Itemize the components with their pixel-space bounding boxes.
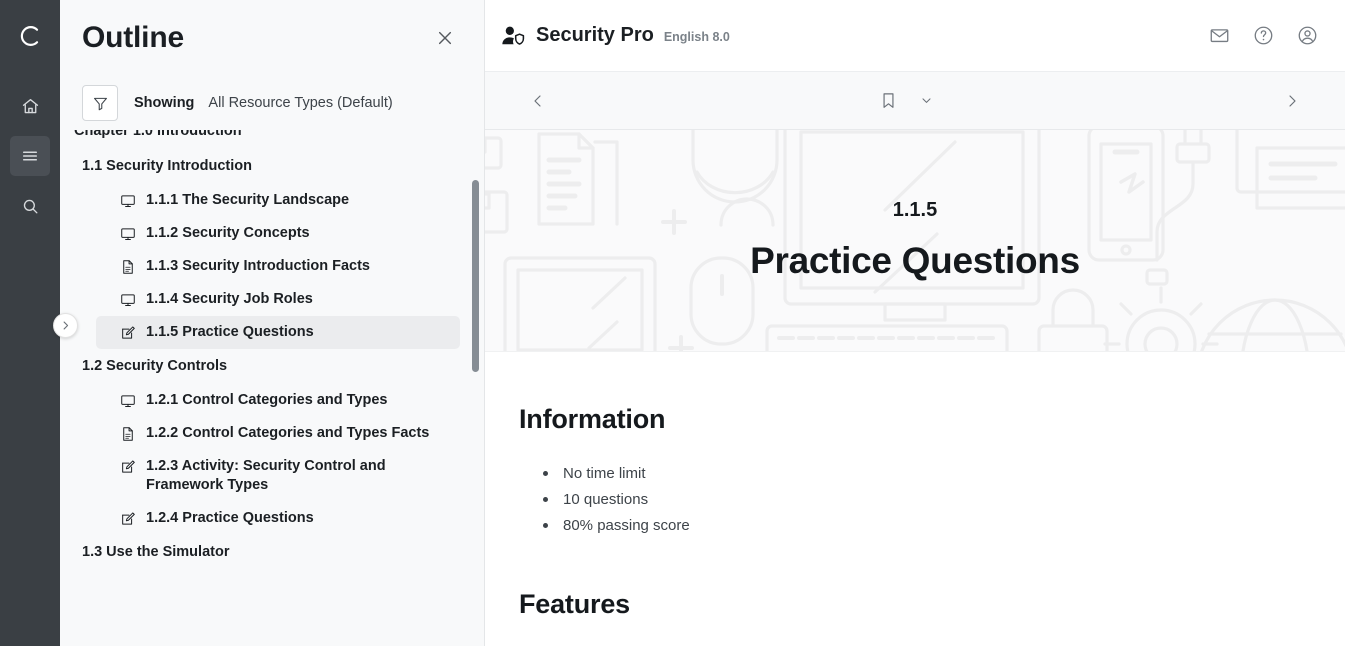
monitor-icon	[120, 226, 136, 242]
sidebar-item-search[interactable]	[10, 186, 50, 226]
outline-topic-label: 1.2.1 Control Categories and Types	[146, 391, 387, 410]
envelope-icon	[1209, 25, 1230, 46]
outline-chapter-heading[interactable]: Chapter 1.0 Introduction	[60, 130, 460, 149]
bookmark-button[interactable]	[879, 90, 898, 111]
sidebar-item-menu[interactable]	[10, 136, 50, 176]
pencil-edit-icon	[120, 325, 136, 341]
features-heading: Features	[519, 589, 1311, 620]
filter-button[interactable]	[82, 85, 118, 121]
close-icon	[435, 28, 455, 48]
outline-panel: Outline Showing All Resource Types (Defa…	[60, 0, 485, 646]
topic-body: Information No time limit10 questions80%…	[485, 352, 1345, 646]
top-bar-actions	[1205, 22, 1321, 50]
pencil-edit-icon	[120, 459, 136, 475]
outline-topic-label: 1.1.4 Security Job Roles	[146, 290, 313, 309]
c-logo-icon[interactable]	[10, 14, 50, 58]
search-icon	[21, 197, 40, 216]
showing-value[interactable]: All Resource Types (Default)	[208, 95, 392, 111]
information-bullet-list: No time limit10 questions80% passing sco…	[541, 465, 1311, 534]
hero-banner: 1.1.5 Practice Questions	[485, 130, 1345, 352]
outline-topic-item[interactable]: 1.2.2 Control Categories and Types Facts	[96, 417, 460, 450]
chevron-down-icon	[920, 94, 933, 107]
outline-topic-label: 1.1.5 Practice Questions	[146, 323, 314, 342]
user-shield-icon	[501, 25, 526, 47]
account-button[interactable]	[1293, 22, 1321, 50]
home-icon	[21, 97, 40, 116]
pencil-edit-icon	[120, 457, 136, 476]
question-circle-icon	[1253, 25, 1274, 46]
monitor-icon	[120, 224, 136, 243]
outline-topic-item[interactable]: 1.1.3 Security Introduction Facts	[96, 250, 460, 283]
user-circle-icon	[1297, 25, 1318, 46]
close-outline-button[interactable]	[428, 21, 462, 55]
information-bullet: No time limit	[541, 465, 1311, 482]
outline-topic-label: 1.1.3 Security Introduction Facts	[146, 257, 370, 276]
hero-topic-number: 1.1.5	[893, 199, 937, 222]
content-nav-bar	[485, 72, 1345, 130]
outline-topic-label: 1.1.1 The Security Landscape	[146, 191, 349, 210]
mail-button[interactable]	[1205, 22, 1233, 50]
bookmark-dropdown-button[interactable]	[920, 94, 933, 107]
outline-topic-label: 1.2.2 Control Categories and Types Facts	[146, 424, 429, 443]
monitor-icon	[120, 391, 136, 410]
bookmark-icon	[879, 90, 898, 111]
outline-section-heading[interactable]: 1.1 Security Introduction	[60, 149, 460, 184]
filter-row: Showing All Resource Types (Default)	[60, 76, 484, 130]
top-bar: Security Pro English 8.0	[485, 0, 1345, 72]
chevron-right-icon	[60, 320, 71, 331]
pencil-edit-icon	[120, 511, 136, 527]
outline-topic-item[interactable]: 1.1.1 The Security Landscape	[96, 184, 460, 217]
main-content-area: Security Pro English 8.0	[485, 0, 1345, 646]
outline-topic-item[interactable]: 1.1.2 Security Concepts	[96, 217, 460, 250]
document-icon	[120, 424, 136, 443]
monitor-icon	[120, 292, 136, 308]
help-button[interactable]	[1249, 22, 1277, 50]
sidebar-expand-button[interactable]	[53, 313, 78, 338]
brand-version: English 8.0	[664, 30, 730, 44]
brand-name: Security Pro	[536, 24, 654, 47]
hamburger-menu-icon	[20, 146, 40, 166]
next-page-button[interactable]	[1277, 86, 1307, 116]
pencil-edit-icon	[120, 323, 136, 342]
outline-scrollbar-thumb[interactable]	[472, 180, 479, 372]
document-icon	[120, 257, 136, 276]
outline-header: Outline	[60, 0, 484, 76]
filter-funnel-icon	[92, 95, 109, 112]
outline-topic-item[interactable]: 1.2.4 Practice Questions	[96, 502, 460, 535]
monitor-icon	[120, 290, 136, 309]
outline-topic-label: 1.1.2 Security Concepts	[146, 224, 310, 243]
information-heading: Information	[519, 404, 1311, 435]
outline-scroll-region: Chapter 1.0 Introduction1.1 Security Int…	[60, 130, 484, 646]
outline-topic-label: 1.2.3 Activity: Security Control and Fra…	[146, 457, 450, 495]
outline-section-heading[interactable]: 1.3 Use the Simulator	[60, 535, 460, 570]
outline-scrollbar-track[interactable]	[471, 130, 479, 646]
page-title: Outline	[82, 21, 428, 55]
monitor-icon	[120, 193, 136, 209]
outline-topic-item[interactable]: 1.2.3 Activity: Security Control and Fra…	[96, 450, 460, 502]
monitor-icon	[120, 393, 136, 409]
information-bullet: 10 questions	[541, 491, 1311, 508]
information-bullet: 80% passing score	[541, 517, 1311, 534]
hero-topic-title: Practice Questions	[750, 240, 1080, 282]
outline-section-heading[interactable]: 1.2 Security Controls	[60, 349, 460, 384]
outline-topic-label: 1.2.4 Practice Questions	[146, 509, 314, 528]
chevron-right-icon	[1284, 93, 1300, 109]
outline-topic-item[interactable]: 1.2.1 Control Categories and Types	[96, 384, 460, 417]
outline-topic-item[interactable]: 1.1.5 Practice Questions	[96, 316, 460, 349]
outline-topic-item[interactable]: 1.1.4 Security Job Roles	[96, 283, 460, 316]
monitor-icon	[120, 191, 136, 210]
brand: Security Pro English 8.0	[501, 24, 1205, 47]
sidebar-item-home[interactable]	[10, 86, 50, 126]
bookmark-controls	[535, 90, 1277, 111]
pencil-edit-icon	[120, 509, 136, 528]
outline-list: Chapter 1.0 Introduction1.1 Security Int…	[60, 130, 484, 570]
document-icon	[120, 259, 136, 275]
left-nav-rail	[0, 0, 60, 646]
app-root: Outline Showing All Resource Types (Defa…	[0, 0, 1345, 646]
showing-label: Showing	[134, 95, 194, 111]
document-icon	[120, 426, 136, 442]
